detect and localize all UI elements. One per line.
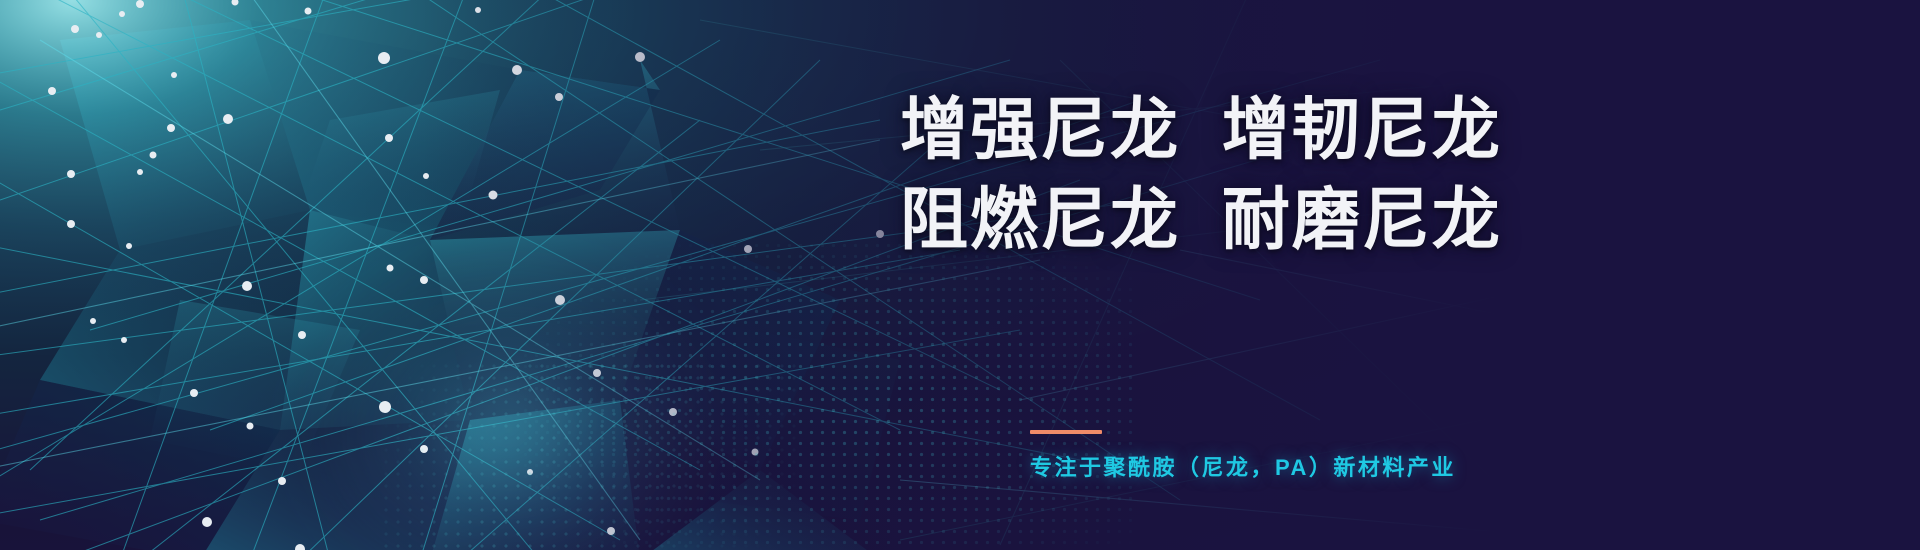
hero-banner: 增强尼龙 增韧尼龙 阻燃尼龙 耐磨尼龙 专注于聚酰胺（尼龙，PA）新材料产业 [0, 0, 1920, 550]
tagline-text: 专注于聚酰胺（尼龙，PA）新材料产业 [1030, 450, 1456, 482]
tagline-block: 专注于聚酰胺（尼龙，PA）新材料产业 [1030, 430, 1456, 482]
headline-line-2: 阻燃尼龙 耐磨尼龙 [900, 186, 1502, 254]
headline-line-1: 增强尼龙 增韧尼龙 [900, 96, 1502, 164]
banner-content: 增强尼龙 增韧尼龙 阻燃尼龙 耐磨尼龙 专注于聚酰胺（尼龙，PA）新材料产业 [0, 0, 1920, 550]
tagline-divider [1030, 430, 1102, 434]
